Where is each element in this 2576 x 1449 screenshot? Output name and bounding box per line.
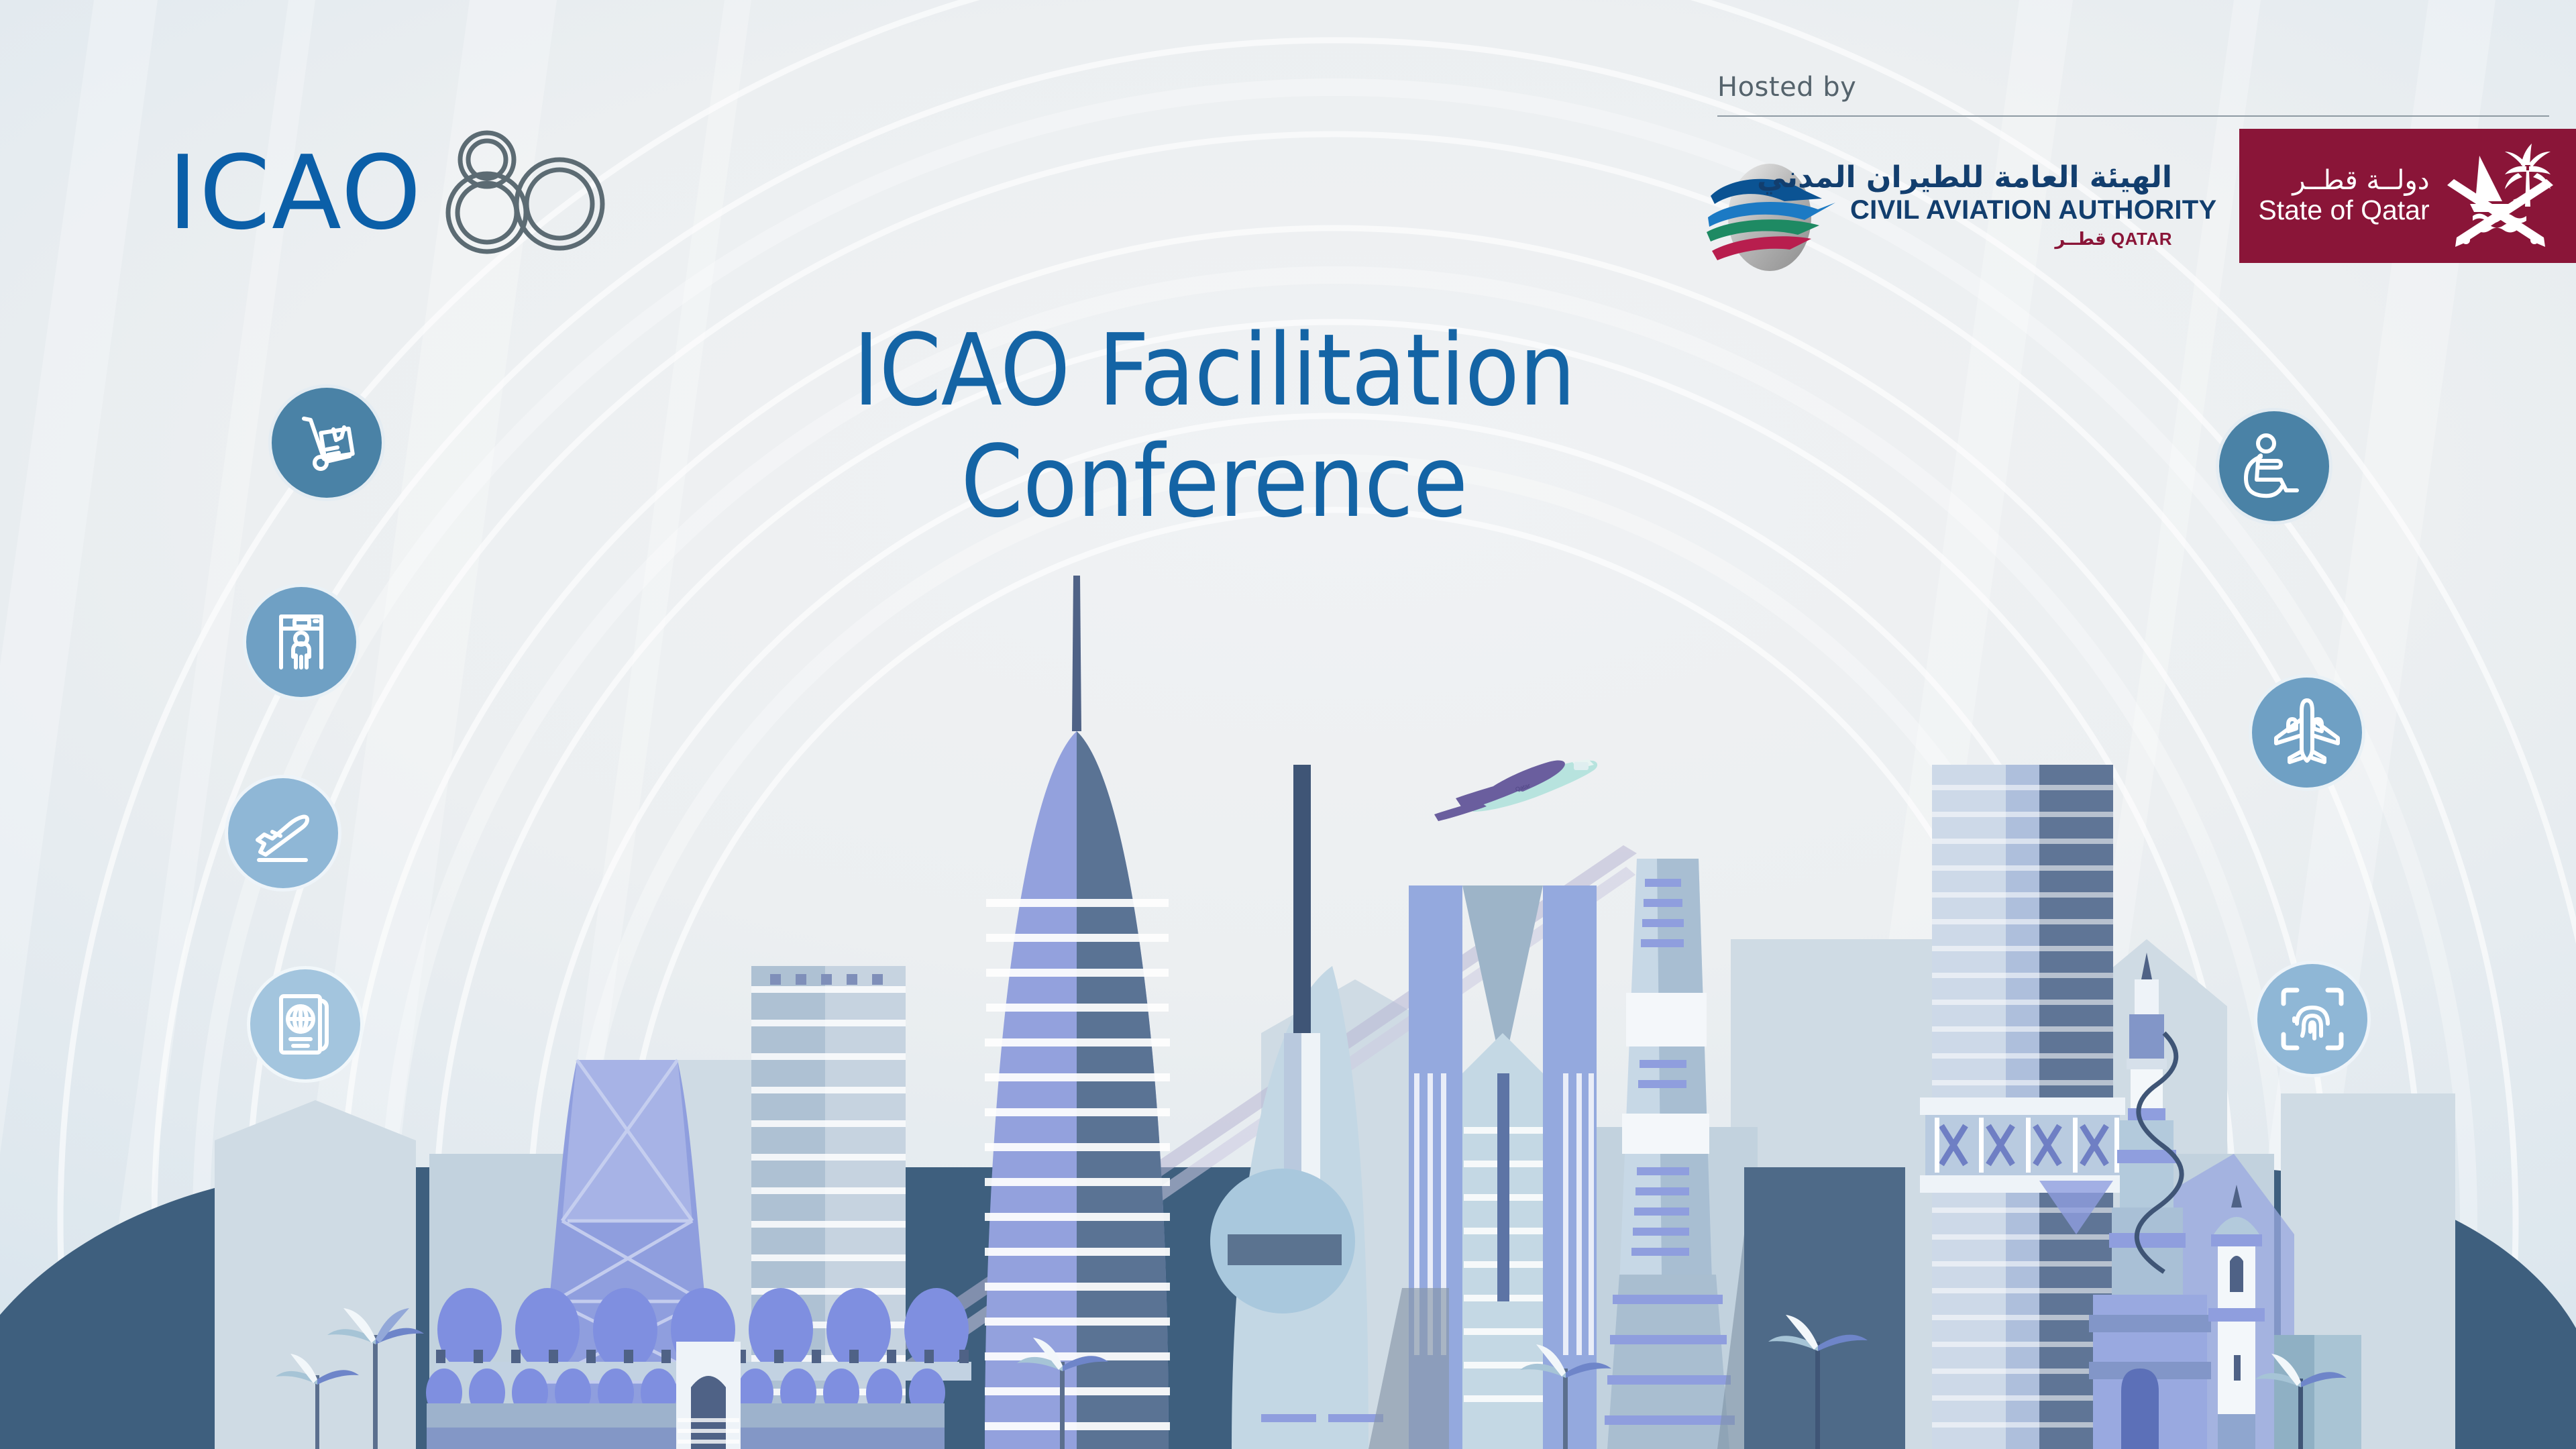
- caa-country-line: قطــر QATAR: [1850, 229, 2172, 250]
- cargo-trolley-icon-bubble: [268, 384, 385, 501]
- poster-canvas: ICAO Hosted by: [0, 0, 2576, 1449]
- fingerprint-scan-icon: [2277, 983, 2348, 1055]
- civil-aviation-authority-logo: الهيئة العامة للطيران المدني CIVIL AVIAT…: [1704, 161, 2173, 275]
- cargo-trolley-icon: [293, 409, 360, 476]
- page-title-line-1: ICAO Facilitation: [644, 315, 1784, 427]
- hosted-by-label: Hosted by: [1717, 74, 2549, 101]
- passport-icon: [273, 989, 337, 1059]
- qatar-emblem-icon: [2443, 142, 2557, 250]
- fingerprint-scan-icon-bubble: [2254, 961, 2371, 1077]
- flying-airplane-icon: Qatar: [1429, 745, 1603, 832]
- qatar-text-lockup: دولــة قطــر State of Qatar: [2258, 167, 2429, 225]
- departing-plane-icon-bubble: [225, 775, 341, 892]
- hosted-by-divider: [1717, 115, 2549, 117]
- icao-logo: ICAO: [168, 131, 543, 259]
- caa-arabic-name: الهيئة العامة للطيران المدني: [1850, 162, 2172, 194]
- aircraft-top-view-icon: [2271, 696, 2343, 769]
- page-title-line-2: Conference: [644, 427, 1784, 538]
- security-gate-icon: [268, 608, 335, 676]
- icao-wordmark: ICAO: [168, 142, 423, 244]
- page-title: ICAO Facilitation Conference: [644, 315, 1784, 538]
- qatar-english-name: State of Qatar: [2258, 197, 2429, 225]
- security-gate-icon-bubble: [243, 584, 360, 700]
- qatar-arabic-name: دولــة قطــر: [2258, 167, 2429, 195]
- departing-plane-icon: [248, 798, 318, 868]
- accessibility-wheelchair-icon-bubble: [2216, 408, 2332, 525]
- aircraft-top-view-icon-bubble: [2249, 674, 2365, 791]
- state-of-qatar-badge: دولــة قطــر State of Qatar: [2239, 129, 2576, 263]
- caa-text-lockup: الهيئة العامة للطيران المدني CIVIL AVIAT…: [1850, 162, 2172, 250]
- passport-icon-bubble: [247, 966, 364, 1083]
- icao-80-anniversary-mark: [428, 125, 616, 259]
- hosted-by-block: Hosted by: [1717, 74, 2549, 117]
- caa-english-name: CIVIL AVIATION AUTHORITY: [1850, 195, 2172, 225]
- doha-skyline-illustration: [0, 563, 2576, 1449]
- accessibility-wheelchair-icon: [2239, 431, 2309, 501]
